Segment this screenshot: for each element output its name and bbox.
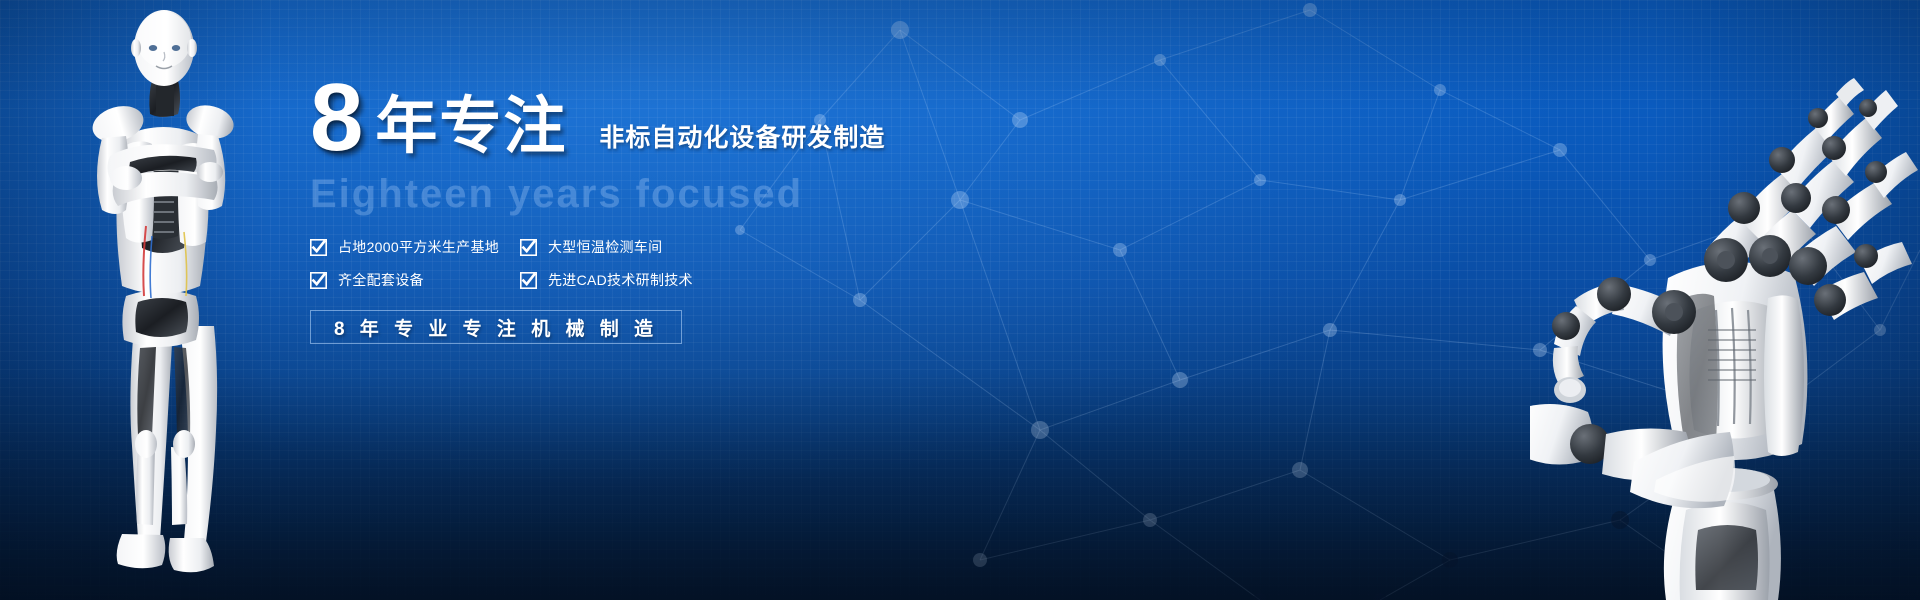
slogan-text: 8 年 专 业 专 注 机 械 制 造 [334, 314, 658, 341]
feature-item: 齐全配套设备 [310, 270, 520, 290]
feature-item: 先进CAD技术研制技术 [520, 270, 730, 290]
robotic-hand-figure [1530, 10, 1920, 600]
feature-label: 占地2000平方米生产基地 [338, 237, 499, 257]
check-box-icon [520, 272, 537, 289]
headline: 8 年专注 非标自动化设备研发制造 [310, 78, 1070, 162]
check-box-icon [520, 239, 537, 256]
android-robot-figure [60, 0, 290, 596]
banner-copy-block: 8 年专注 非标自动化设备研发制造 Eighteen years focused… [310, 78, 1070, 344]
feature-item: 占地2000平方米生产基地 [310, 237, 520, 257]
check-box-icon [310, 272, 327, 289]
headline-english: Eighteen years focused [310, 172, 1070, 217]
feature-list: 占地2000平方米生产基地 大型恒温检测车间 [310, 237, 1070, 290]
check-box-icon [310, 239, 327, 256]
slogan-box: 8 年 专 业 专 注 机 械 制 造 [310, 310, 682, 344]
feature-label: 先进CAD技术研制技术 [548, 270, 693, 290]
headline-number: 8 [310, 74, 361, 162]
feature-label: 大型恒温检测车间 [548, 237, 662, 257]
feature-label: 齐全配套设备 [338, 270, 424, 290]
feature-item: 大型恒温检测车间 [520, 237, 730, 257]
promo-banner: 8 年专注 非标自动化设备研发制造 Eighteen years focused… [0, 0, 1920, 600]
headline-subtitle: 非标自动化设备研发制造 [599, 118, 885, 162]
headline-chinese: 年专注 [375, 96, 567, 162]
